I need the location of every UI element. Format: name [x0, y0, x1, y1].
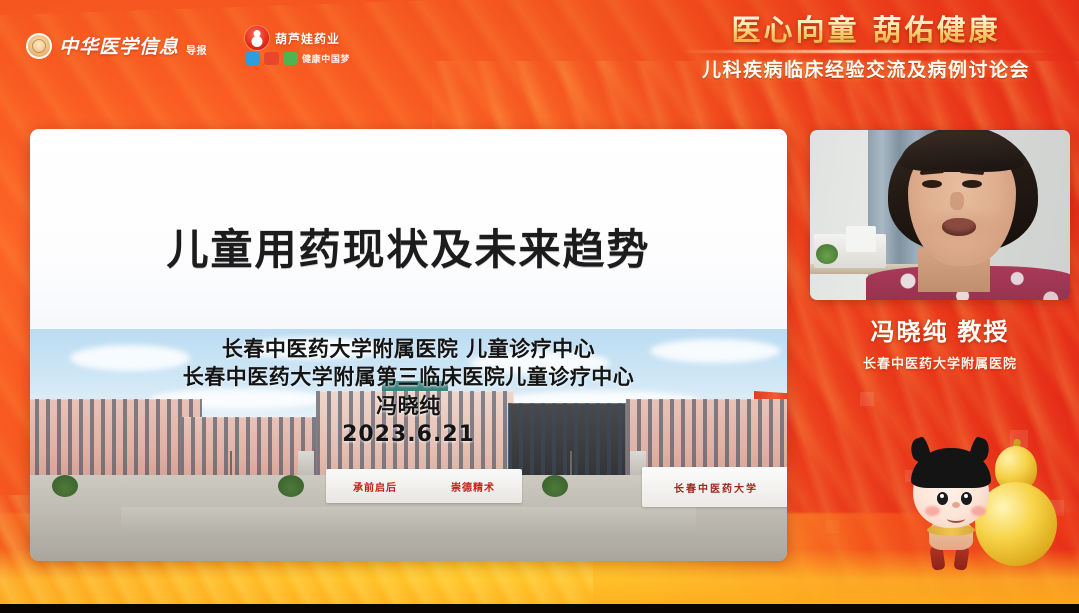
campus-road	[121, 507, 696, 537]
presentation-slide[interactable]: 儿童用药现状及未来趋势	[30, 129, 787, 561]
logo-huluwa-top: 葫芦娃药业	[245, 26, 350, 50]
campus-sign-right-text: 崇德精术	[451, 479, 495, 494]
room-box	[846, 226, 876, 252]
sponsor-logos: 中华医学信息 导报 葫芦娃药业 健康中国梦	[26, 26, 350, 65]
slide-line-2: 长春中医药大学附属第三临床医院儿童诊疗中心	[30, 363, 787, 391]
tree-shape	[52, 475, 78, 497]
video-scene	[810, 130, 1070, 300]
chip-red-icon	[264, 52, 279, 65]
university-name-text: 长春中医药大学	[674, 480, 758, 495]
broadcast-stage: 中华医学信息 导报 葫芦娃药业 健康中国梦 医心向童 葫佑健康 儿科疾病临床经验…	[0, 0, 1079, 613]
mascot-mouth	[947, 514, 965, 523]
gourd-badge-icon	[245, 26, 269, 50]
speaker-organization: 长春中医药大学附属医院	[810, 353, 1070, 372]
bottom-black-bar	[0, 604, 1079, 613]
slide-line-3: 冯晓纯	[30, 392, 787, 420]
speaker-head	[888, 130, 1038, 276]
mascot-blush-right	[971, 506, 986, 516]
event-banner-title: 医心向童 葫佑健康	[669, 14, 1063, 47]
slide-subtitle-block: 长春中医药大学附属医院 儿童诊疗中心 长春中医药大学附属第三临床医院儿童诊疗中心…	[30, 335, 787, 447]
tree-shape	[542, 475, 568, 497]
event-banner-subtitle: 儿科疾病临床经验交流及病例讨论会	[669, 55, 1063, 82]
logo-huluwa-bottom: 健康中国梦	[245, 52, 350, 65]
slide-date: 2023.6.21	[30, 422, 787, 447]
speaker-video-feed[interactable]	[810, 130, 1070, 300]
event-banner-divider	[677, 50, 1055, 53]
slide-title: 儿童用药现状及未来趋势	[30, 216, 787, 277]
mascot-eye-right	[961, 492, 972, 505]
mascot-child	[905, 450, 997, 574]
tree-shape	[278, 475, 304, 497]
mascot-nose	[952, 502, 960, 508]
room-plant	[816, 244, 838, 264]
speaker-eye-right	[962, 180, 982, 188]
campus-sign-left-text: 承前启后	[353, 479, 397, 494]
logo-cma[interactable]: 中华医学信息 导报	[26, 32, 207, 59]
cma-emblem-icon	[26, 33, 52, 59]
speaker-mouth	[942, 218, 976, 236]
logo-huluwa[interactable]: 葫芦娃药业 健康中国梦	[245, 26, 350, 65]
university-name-board: 长春中医药大学	[642, 467, 787, 507]
decor-square	[860, 392, 874, 406]
chip-blue-icon	[245, 52, 260, 65]
speaker-name: 冯晓纯 教授	[810, 312, 1070, 347]
mascot-eye-left	[937, 492, 948, 505]
event-banner: 医心向童 葫佑健康 儿科疾病临床经验交流及病例讨论会	[669, 14, 1063, 82]
speaker-eye-left	[922, 180, 942, 188]
chip-green-icon	[283, 52, 298, 65]
mascot-blush-left	[925, 506, 940, 516]
speaker-info: 冯晓纯 教授 长春中医药大学附属医院	[810, 312, 1070, 372]
logo-cma-word: 中华医学信息	[59, 32, 179, 59]
slide-line-1: 长春中医药大学附属医院 儿童诊疗中心	[30, 335, 787, 363]
campus-sign-stone: 承前启后 崇德精术	[326, 469, 522, 503]
logo-huluwa-name: 葫芦娃药业	[275, 30, 340, 47]
gourd-boy-mascot	[905, 432, 1065, 582]
logo-huluwa-tagline: 健康中国梦	[302, 52, 350, 65]
logo-cma-suffix: 导报	[186, 42, 207, 59]
